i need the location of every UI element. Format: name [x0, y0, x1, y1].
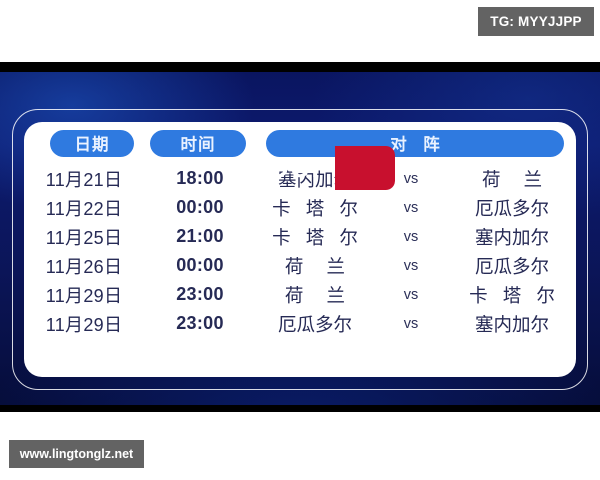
- table-row: 11月25日 21:00 卡 塔 尔 vs 塞内加尔: [24, 222, 576, 251]
- header-cell-date: 日期: [24, 122, 144, 164]
- cell-vs: vs: [374, 280, 448, 309]
- table-row: 11月22日 00:00 卡 塔 尔 vs 厄瓜多尔: [24, 193, 576, 222]
- group-badge: GROUP A: [205, 146, 395, 190]
- cell-time: 21:00: [144, 222, 256, 251]
- cell-away-team: 荷 兰: [448, 164, 576, 193]
- cell-time: 00:00: [144, 251, 256, 280]
- cell-home-team: 荷 兰: [256, 280, 374, 309]
- cell-vs: vs: [374, 251, 448, 280]
- cell-away-team: 卡 塔 尔: [448, 280, 576, 309]
- watermark-bottom-left: www.lingtonglz.net: [9, 440, 144, 468]
- cell-date: 11月29日: [24, 280, 144, 309]
- schedule-table-body: 11月21日 18:00 塞内加尔 vs 荷 兰 11月22日 00:00 卡 …: [24, 164, 576, 338]
- table-row: 11月26日 00:00 荷 兰 vs 厄瓜多尔: [24, 251, 576, 280]
- cell-vs: vs: [374, 222, 448, 251]
- watermark-top-right-text: TG: MYYJJPP: [490, 14, 581, 29]
- cell-home-team: 卡 塔 尔: [256, 222, 374, 251]
- group-a-poster: GROUP A 日期 时间 对 阵: [0, 62, 600, 412]
- watermark-bottom-left-text: www.lingtonglz.net: [20, 447, 133, 461]
- cell-away-team: 厄瓜多尔: [448, 193, 576, 222]
- red-redaction-block: [335, 146, 395, 190]
- cell-home-team: 荷 兰: [256, 251, 374, 280]
- cell-home-team: 卡 塔 尔: [256, 193, 374, 222]
- cell-date: 11月29日: [24, 309, 144, 338]
- cell-vs: vs: [374, 309, 448, 338]
- cell-vs: vs: [374, 193, 448, 222]
- table-row: 11月29日 23:00 厄瓜多尔 vs 塞内加尔: [24, 309, 576, 338]
- header-pill-date: 日期: [50, 130, 134, 157]
- cell-date: 11月22日: [24, 193, 144, 222]
- cell-date: 11月26日: [24, 251, 144, 280]
- watermark-top-right: TG: MYYJJPP: [478, 7, 594, 36]
- cell-date: 11月25日: [24, 222, 144, 251]
- cell-away-team: 塞内加尔: [448, 309, 576, 338]
- cell-home-team: 厄瓜多尔: [256, 309, 374, 338]
- cell-time: 23:00: [144, 309, 256, 338]
- cell-time: 23:00: [144, 280, 256, 309]
- cell-time: 00:00: [144, 193, 256, 222]
- table-row: 11月29日 23:00 荷 兰 vs 卡 塔 尔: [24, 280, 576, 309]
- cell-away-team: 塞内加尔: [448, 222, 576, 251]
- cell-away-team: 厄瓜多尔: [448, 251, 576, 280]
- cell-date: 11月21日: [24, 164, 144, 193]
